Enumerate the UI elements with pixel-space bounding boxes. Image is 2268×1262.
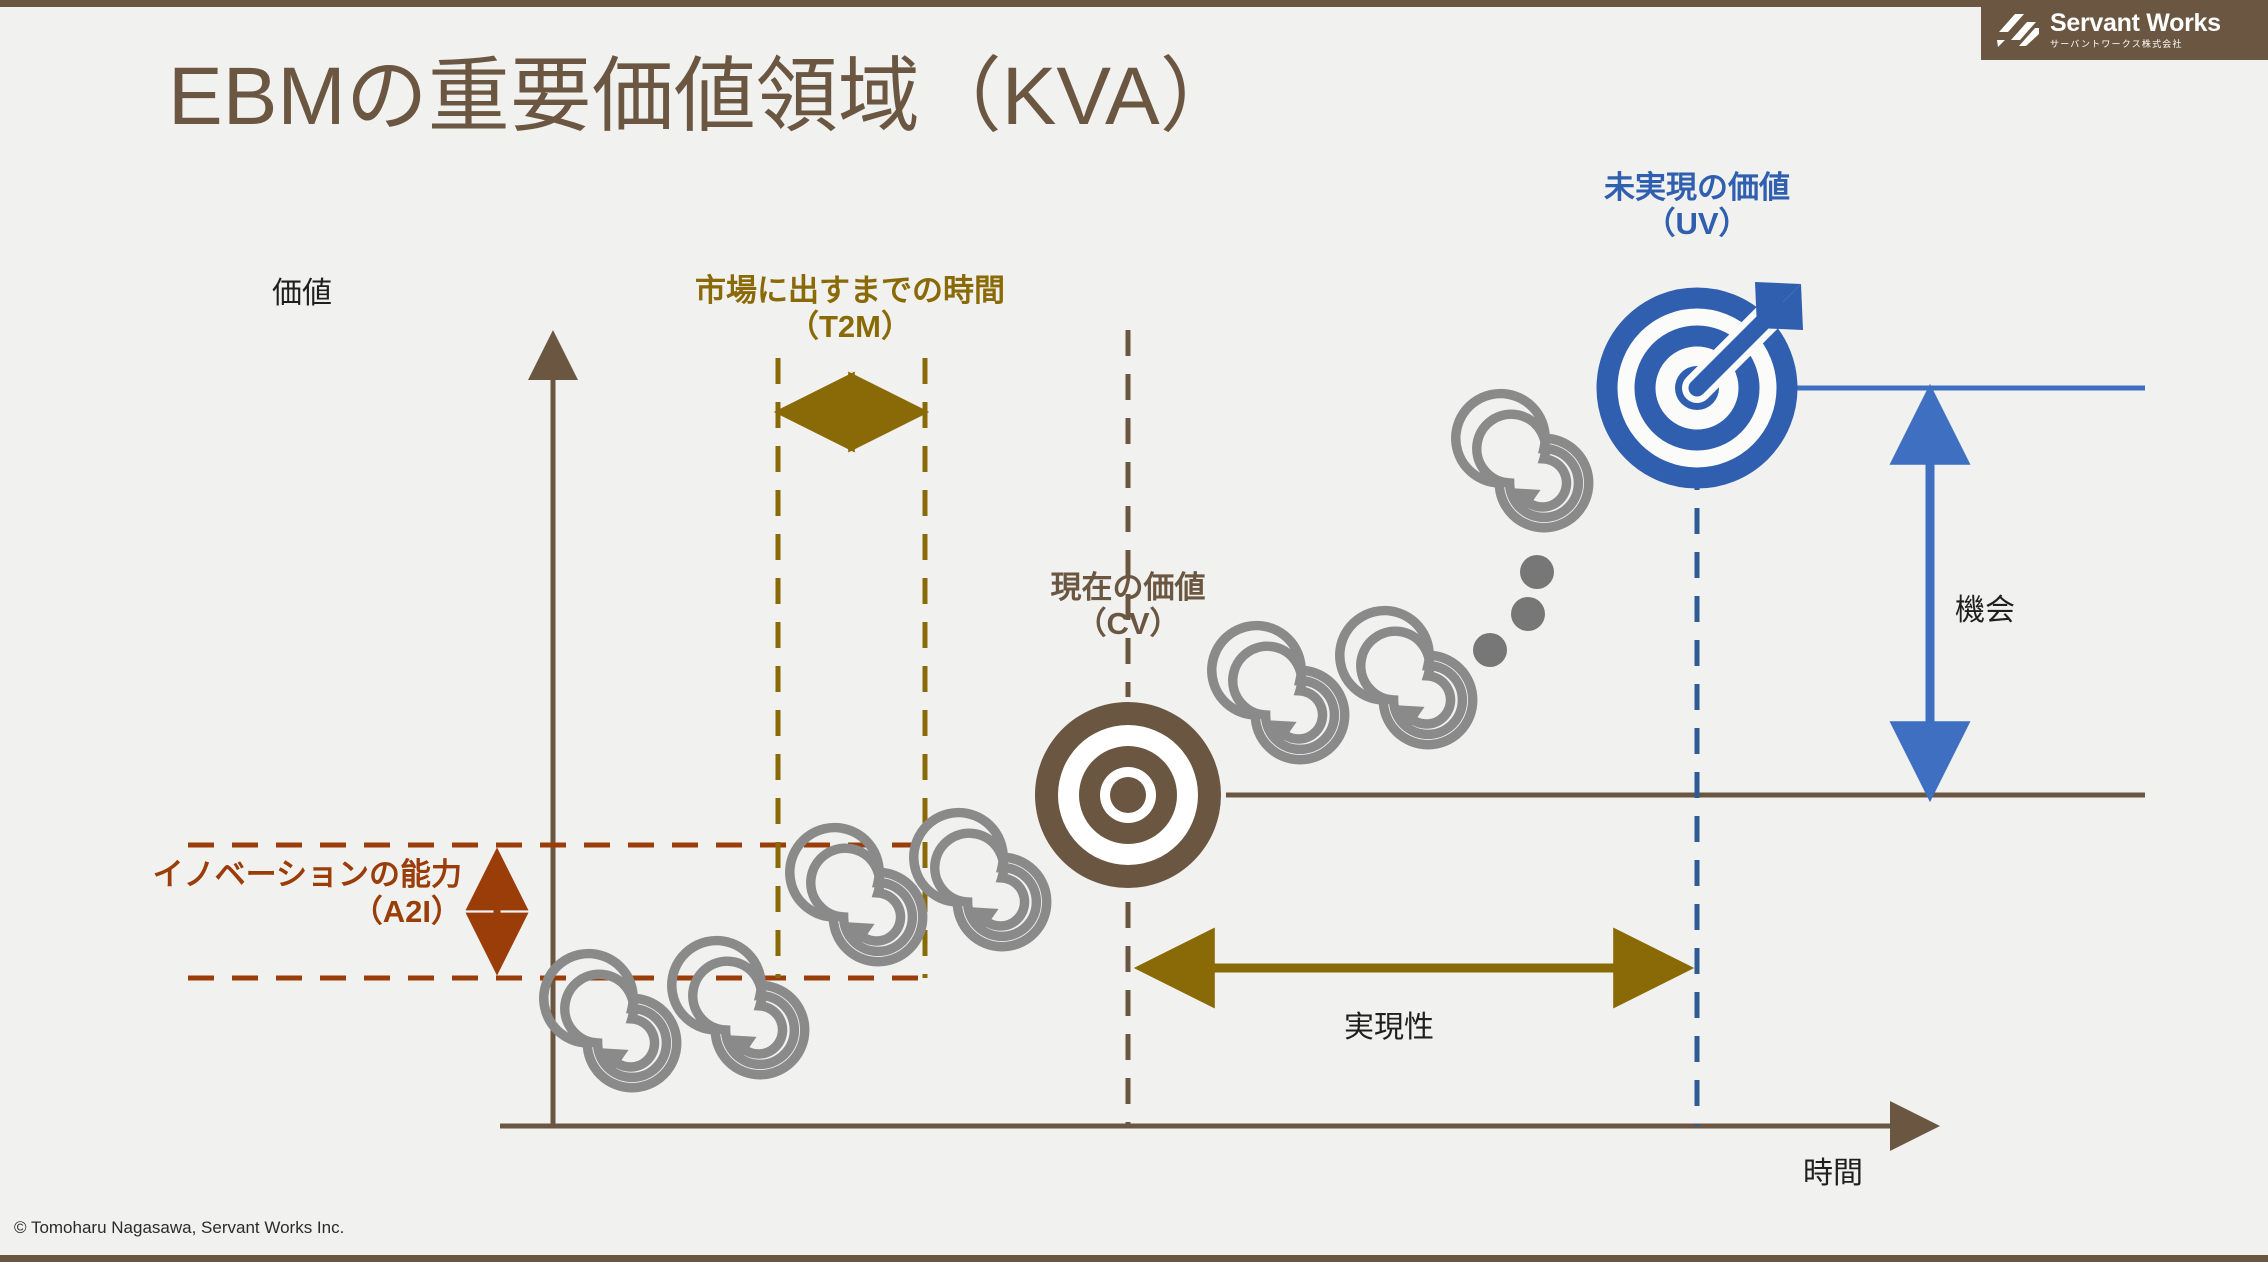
- current-value-target-icon: [1030, 697, 1226, 893]
- spiral-arrow-icon: [790, 828, 923, 962]
- uv-line-1: 未実現の価値: [1517, 170, 1877, 206]
- t2m-line-1: 市場に出すまでの時間: [620, 273, 1080, 309]
- x-axis-label: 時間: [1803, 1148, 1863, 1192]
- spiral-arrow-icon: [544, 954, 677, 1088]
- cv-line-1: 現在の価値: [948, 570, 1308, 606]
- t2m-line-2: （T2M）: [620, 309, 1080, 345]
- unrealized-value-target-arrow-icon: [1600, 282, 1803, 485]
- spiral-arrow-icon: [914, 813, 1047, 947]
- a2i-line-2: （A2I）: [22, 894, 462, 931]
- t2m-annotation: 市場に出すまでの時間 （T2M）: [620, 273, 1080, 344]
- uv-annotation: 未実現の価値 （UV）: [1517, 170, 1877, 241]
- feasibility-label: 実現性: [1344, 1002, 1434, 1046]
- spiral-arrow-icon: [1340, 611, 1473, 745]
- a2i-annotation: イノベーションの能力 （A2I）: [22, 857, 462, 930]
- a2i-line-1: イノベーションの能力: [22, 857, 462, 894]
- y-axis-label: 価値: [272, 268, 332, 312]
- progression-dot: [1511, 597, 1545, 631]
- opportunity-label: 機会: [1955, 585, 2015, 629]
- spiral-arrow-icon: [672, 941, 805, 1075]
- cv-annotation: 現在の価値 （CV）: [948, 570, 1308, 641]
- slide-canvas: Servant Works サーバントワークス株式会社 EBMの重要価値領域（K…: [0, 0, 2268, 1262]
- spiral-arrow-icon: [1456, 394, 1589, 528]
- progression-dots: [1473, 555, 1554, 667]
- uv-line-2: （UV）: [1517, 206, 1877, 242]
- progression-dot: [1520, 555, 1554, 589]
- progression-dot: [1473, 633, 1507, 667]
- spiral-arrow-icon: [1212, 626, 1345, 760]
- cv-line-2: （CV）: [948, 606, 1308, 642]
